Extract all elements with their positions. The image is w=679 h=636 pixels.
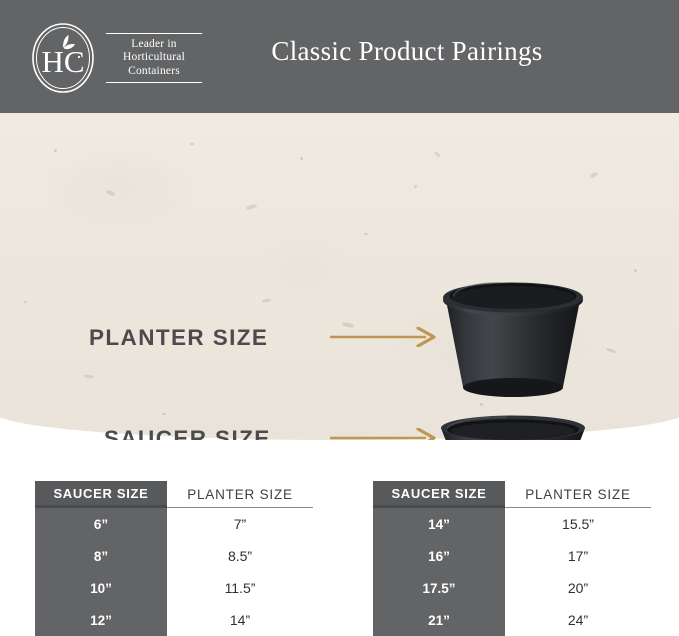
- hero-panel: PLANTER SIZE SAUCER SIZE: [0, 113, 679, 440]
- table-row: 12” 14”: [35, 604, 313, 636]
- cell-saucer-size: 16”: [373, 540, 505, 572]
- cell-saucer-size: 10”: [35, 572, 167, 604]
- saucer-size-label: SAUCER SIZE: [104, 426, 271, 440]
- logo-rule-top: [106, 33, 202, 34]
- cell-saucer-size: 6”: [35, 508, 167, 540]
- table-header-row: SAUCER SIZE PLANTER SIZE: [373, 481, 651, 508]
- table-row: 6” 7”: [35, 508, 313, 540]
- column-header-planter-size: PLANTER SIZE: [505, 481, 651, 508]
- cell-saucer-size: 8”: [35, 540, 167, 572]
- cell-planter-size: 17”: [505, 540, 651, 572]
- column-header-saucer-size: SAUCER SIZE: [373, 481, 505, 508]
- table-row: 16” 17”: [373, 540, 651, 572]
- logo-rule-bottom: [106, 82, 202, 83]
- header-bar: HC Leader in Horticultural Containers Cl…: [0, 0, 679, 113]
- table-row: 10” 11.5”: [35, 572, 313, 604]
- cell-saucer-size: 17.5”: [373, 572, 505, 604]
- table-row: 8” 8.5”: [35, 540, 313, 572]
- cell-planter-size: 7”: [167, 508, 313, 540]
- table-body: 14” 15.5” 16” 17” 17.5” 20” 21” 24”: [373, 508, 651, 636]
- cell-planter-size: 20”: [505, 572, 651, 604]
- table-row: 21” 24”: [373, 604, 651, 636]
- cell-planter-size: 14”: [167, 604, 313, 636]
- table-body: 6” 7” 8” 8.5” 10” 11.5” 12” 14”: [35, 508, 313, 636]
- planter-arrow-icon: [330, 327, 438, 347]
- column-header-saucer-size: SAUCER SIZE: [35, 481, 167, 508]
- page-title: Classic Product Pairings: [0, 36, 679, 67]
- table-header-row: SAUCER SIZE PLANTER SIZE: [35, 481, 313, 508]
- cell-planter-size: 15.5”: [505, 508, 651, 540]
- cell-saucer-size: 21”: [373, 604, 505, 636]
- cell-planter-size: 24”: [505, 604, 651, 636]
- cell-planter-size: 8.5”: [167, 540, 313, 572]
- table-row: 17.5” 20”: [373, 572, 651, 604]
- saucer-arrow-icon: [330, 428, 438, 440]
- saucer-image: [437, 409, 589, 440]
- cell-saucer-size: 14”: [373, 508, 505, 540]
- column-header-planter-size: PLANTER SIZE: [167, 481, 313, 508]
- table-row: 14” 15.5”: [373, 508, 651, 540]
- cell-planter-size: 11.5”: [167, 572, 313, 604]
- size-table-right: SAUCER SIZE PLANTER SIZE 14” 15.5” 16” 1…: [373, 481, 651, 636]
- planter-size-label: PLANTER SIZE: [89, 325, 268, 351]
- cell-saucer-size: 12”: [35, 604, 167, 636]
- size-table-left: SAUCER SIZE PLANTER SIZE 6” 7” 8” 8.5” 1…: [35, 481, 313, 636]
- planter-pot-image: [439, 281, 587, 411]
